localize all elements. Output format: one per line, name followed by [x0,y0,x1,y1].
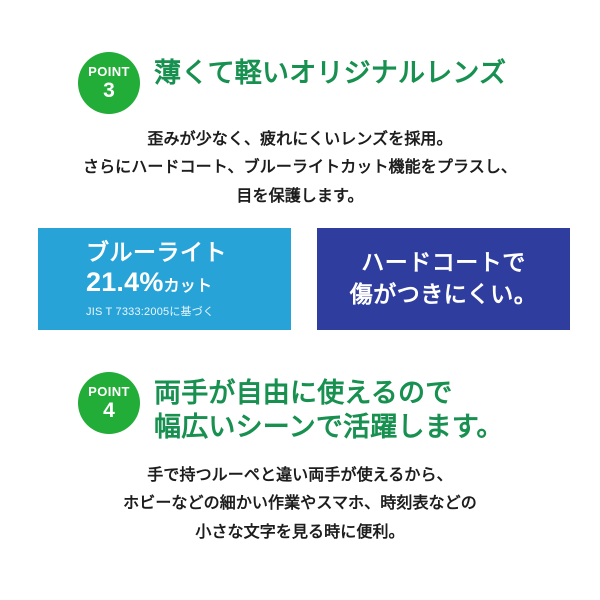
point-section-4: POINT 4 両手が自由に使えるので 幅広いシーンで活躍します。 [0,372,600,445]
point-3-badge-word: POINT [88,65,130,78]
point-3-badge-number: 3 [103,80,115,101]
point-3-body-line-2: さらにハードコート、ブルーライトカット機能をプラスし、 [0,154,600,182]
point-3-body-line-1: 歪みが少なく、疲れにくいレンズを採用。 [0,126,600,154]
point-3-heading: 薄くて軽いオリジナルレンズ [154,52,506,90]
bluelight-stat: 21.4%カット [86,268,291,298]
bluelight-title: ブルーライト [86,239,291,267]
hardcoat-feature-box: ハードコートで 傷がつきにくい。 [317,228,570,330]
point-4-body-line-2: ホビーなどの細かい作業やスマホ、時刻表などの [0,490,600,518]
point-4-badge: POINT 4 [78,372,140,434]
point-4-body-line-1: 手で持つルーペと違い両手が使えるから、 [0,462,600,490]
point-3-body: 歪みが少なく、疲れにくいレンズを採用。 さらにハードコート、ブルーライトカット機… [0,126,600,211]
point-4-badge-number: 4 [103,400,115,421]
point-4-body-line-3: 小さな文字を見る時に便利。 [0,519,600,547]
point-3-body-line-3: 目を保護します。 [0,183,600,211]
product-feature-page: POINT 3 薄くて軽いオリジナルレンズ 歪みが少なく、疲れにくいレンズを採用… [0,0,600,600]
point-3-heading-line-1: 薄くて軽いオリジナルレンズ [154,56,506,90]
bluelight-stat-number: 21.4% [86,267,164,297]
hardcoat-line-1: ハードコートで [361,247,526,279]
hardcoat-line-2: 傷がつきにくい。 [350,279,538,311]
point-3-badge: POINT 3 [78,52,140,114]
point-3-header: POINT 3 薄くて軽いオリジナルレンズ [0,52,600,114]
point-4-heading: 両手が自由に使えるので 幅広いシーンで活躍します。 [154,372,504,445]
feature-boxes: ブルーライト 21.4%カット JIS T 7333:2005に基づく ハードコ… [38,228,570,330]
point-4-heading-line-1: 両手が自由に使えるので [154,376,504,410]
bluelight-stat-unit: カット [164,278,213,295]
point-section-3: POINT 3 薄くて軽いオリジナルレンズ [0,52,600,114]
point-4-body: 手で持つルーペと違い両手が使えるから、 ホビーなどの細かい作業やスマホ、時刻表な… [0,462,600,547]
bluelight-standard-note: JIS T 7333:2005に基づく [86,303,291,319]
bluelight-feature-box: ブルーライト 21.4%カット JIS T 7333:2005に基づく [38,228,291,330]
point-4-header: POINT 4 両手が自由に使えるので 幅広いシーンで活躍します。 [0,372,600,445]
point-4-badge-word: POINT [88,385,130,398]
point-4-heading-line-2: 幅広いシーンで活躍します。 [154,410,504,444]
